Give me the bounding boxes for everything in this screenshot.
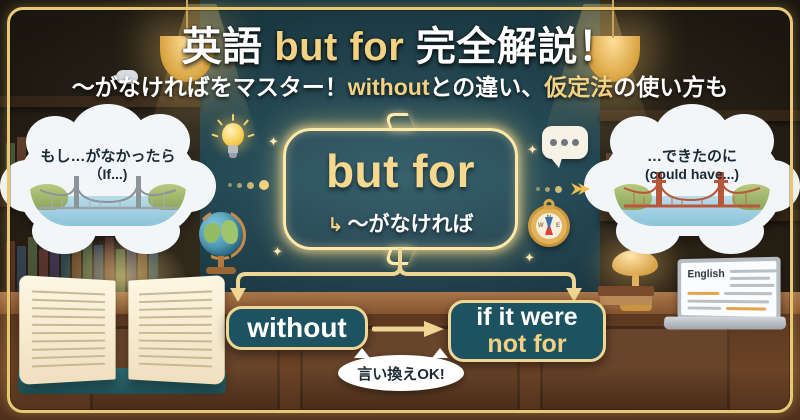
lightbulb-icon [218,123,248,163]
right-cloud-callout: …できたのに (could have...) [602,136,782,236]
page-title: 英語 but for 完全解説！ [0,14,800,72]
translation-label: 〜がなければ [347,213,473,236]
center-term-label: but for [283,144,518,198]
equivalence-arrow [372,320,446,338]
screen-heading: English [688,268,725,280]
laptop-keyboard [663,317,786,330]
page-subtitle: 〜がなければをマスター！withoutとの違い、仮定法の使い方も [0,68,800,102]
title-part2: 完全解説！ [404,25,618,69]
center-term-translation: ↳〜がなければ [283,208,518,238]
subtitle-part3: の使い方も [613,74,728,100]
right-cloud-line1: …できたのに [602,148,782,166]
compass-icon: N S W E [528,205,570,247]
branch-connector [210,248,610,308]
laptop: English [660,258,788,342]
chat-bubble-icon [542,126,588,159]
left-cloud-line2: （If...) [18,166,198,183]
paraphrase-note-bubble: 言い換えOK! [338,355,464,391]
left-cloud-text: もし…がなかったら （If...) [18,148,198,182]
right-cloud-line2: (could have...) [602,166,782,183]
subtitle-highlight-without: without [348,74,430,100]
subtitle-highlight-kateiho: 仮定法 [544,74,613,100]
if-were-highlight: not for [487,331,566,358]
if-it-were-not-for-box[interactable]: if it were not for [448,300,606,362]
without-box[interactable]: without [226,306,368,350]
left-cloud-line1: もし…がなかったら [18,148,198,166]
paraphrase-note-label: 言い換えOK! [357,363,445,384]
infographic-canvas: English [0,0,800,420]
hook-arrow-icon: ↳ [328,215,344,236]
left-cloud-callout: もし…がなかったら （If...) [18,136,198,236]
dotted-arrow-right [536,180,591,198]
subtitle-part1: 〜がなければをマスター！ [72,74,348,100]
right-cloud-text: …できたのに (could have...) [602,148,782,182]
laptop-screen: English [678,257,781,322]
title-highlight: but for [274,25,404,69]
dotted-arrow-left [228,180,269,190]
without-label: without [247,312,347,344]
center-term-bubble: but for ↳〜がなければ [283,128,518,250]
open-book-icon [18,272,226,400]
if-were-line1: if it were [476,304,577,331]
title-part1: 英語 [182,25,275,69]
subtitle-part2: との違い、 [429,74,544,100]
